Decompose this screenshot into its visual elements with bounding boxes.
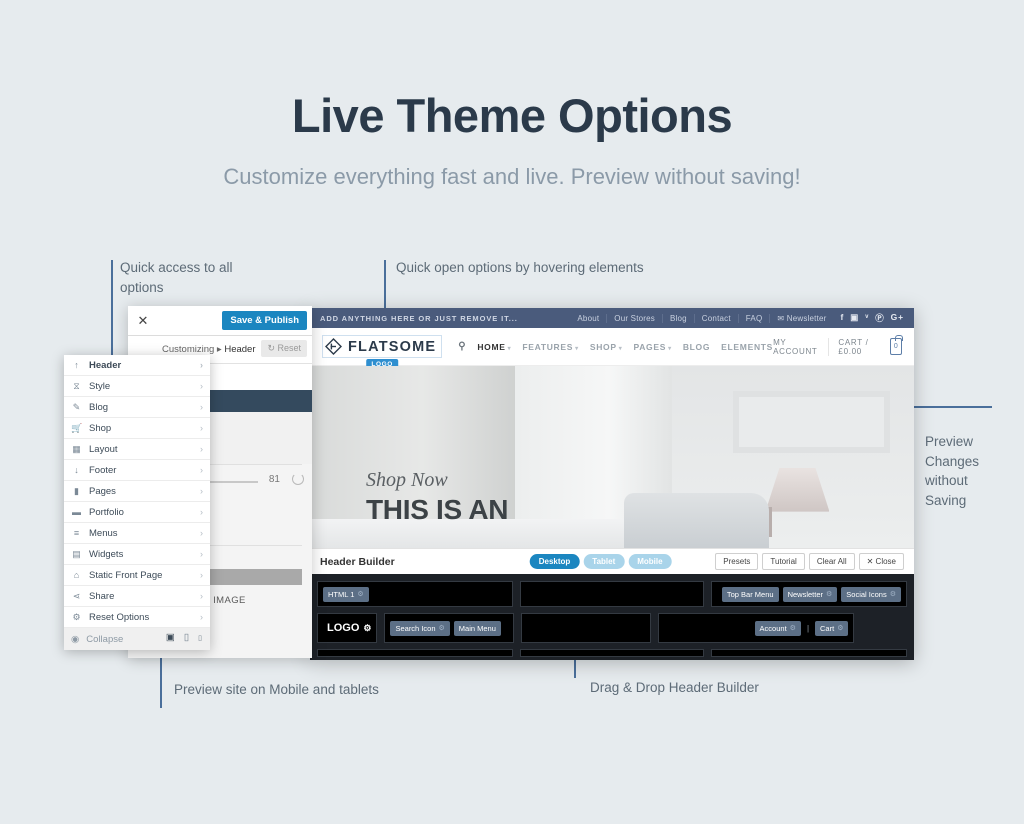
nav-label: PAGES: [633, 342, 666, 352]
instagram-icon[interactable]: ▣: [850, 312, 859, 324]
tab-tablet[interactable]: Tablet: [583, 554, 624, 569]
chevron-right-icon: ›: [200, 423, 203, 433]
envelope-icon: ✉: [777, 314, 784, 323]
top-bar-promo-text: ADD ANYTHING HERE OR JUST REMOVE IT...: [320, 314, 570, 323]
brush-icon: ⧖: [71, 381, 82, 392]
device-desktop-button[interactable]: ▣: [166, 632, 175, 643]
annotation-preview-devices: Preview site on Mobile and tablets: [174, 680, 404, 700]
chevron-right-icon: ›: [200, 507, 203, 517]
chip-label: Search Icon: [395, 624, 435, 633]
builder-chip-top-bar-menu[interactable]: Top Bar Menu: [722, 587, 779, 602]
nav-right-group: MY ACCOUNT CART / £0.00 0: [773, 338, 902, 356]
widgets-icon: ▤: [71, 549, 82, 560]
chevron-right-icon: ›: [200, 528, 203, 538]
builder-cell-logo[interactable]: LOGO ⚙: [317, 613, 377, 643]
header-builder-actions: Presets Tutorial Clear All ✕ Close: [715, 553, 904, 570]
presets-button[interactable]: Presets: [715, 553, 758, 570]
menu-item-label: Shop: [89, 423, 193, 434]
chip-label: Main Menu: [459, 624, 496, 633]
chevron-right-icon: ›: [200, 444, 203, 454]
chip-label: Newsletter: [788, 590, 823, 599]
nav-item-home[interactable]: HOME▾: [477, 342, 511, 352]
builder-cell-bottom-center[interactable]: [520, 649, 704, 657]
page-title: Live Theme Options: [0, 88, 1024, 143]
menu-item-shop[interactable]: 🛒 Shop ›: [64, 418, 210, 439]
site-logo[interactable]: FLATSOME LOGO: [322, 335, 442, 358]
chip-label: HTML 1: [328, 590, 354, 599]
collapse-button[interactable]: ◉ Collapse ▣ ▯ ▯: [64, 628, 210, 650]
hero-text-block: Shop Now THIS IS AN: [366, 469, 508, 526]
builder-chip-main-menu[interactable]: Main Menu: [454, 621, 501, 636]
share-icon: ⋖: [71, 591, 82, 602]
my-account-link[interactable]: MY ACCOUNT: [773, 338, 818, 356]
hero-script-text: Shop Now: [366, 469, 508, 492]
annotation-rule-quick-access: [111, 260, 113, 360]
menu-item-label: Blog: [89, 402, 193, 413]
nav-label: SHOP: [590, 342, 617, 352]
device-mobile-button[interactable]: ▯: [198, 634, 202, 642]
nav-item-shop[interactable]: SHOP▾: [590, 342, 623, 352]
builder-chip-social-icons[interactable]: Social Icons ⚙: [841, 587, 901, 602]
gear-icon[interactable]: ⚙: [439, 624, 445, 632]
device-preview-switcher: ▣ ▯ ▯: [166, 632, 202, 643]
cart-count: 0: [894, 343, 899, 350]
home-icon: ⌂: [71, 570, 82, 580]
top-bar-links: About Our Stores Blog Contact FAQ ✉ News…: [570, 314, 833, 323]
chip-label: Social Icons: [846, 590, 886, 599]
header-builder-stage: HTML 1 ⚙ Top Bar Menu Newsletter ⚙ Socia…: [310, 574, 914, 660]
site-nav-bar: FLATSOME LOGO ⚲ HOME▾ FEATURES▾ SHOP▾ PA…: [310, 328, 914, 366]
clear-all-button[interactable]: Clear All: [809, 553, 855, 570]
menu-item-label: Widgets: [89, 549, 193, 560]
builder-chip-divider[interactable]: |: [805, 624, 811, 633]
hero-shelf: [733, 391, 890, 453]
chevron-right-icon: ›: [200, 591, 203, 601]
logo-label: LOGO: [327, 622, 359, 634]
menu-item-label: Layout: [89, 444, 193, 455]
annotation-quick-access: Quick access to all options: [120, 258, 270, 297]
gear-icon[interactable]: ⚙: [890, 590, 896, 598]
chevron-right-icon: ›: [200, 570, 203, 580]
builder-cell-bottom-right[interactable]: [711, 649, 907, 657]
menu-item-share[interactable]: ⋖ Share ›: [64, 586, 210, 607]
gear-icon: ⚙: [71, 612, 82, 623]
options-flyout-menu: ↑ Header › ⧖ Style › ✎ Blog › 🛒 Shop › ▦…: [64, 355, 210, 650]
site-preview-window: ADD ANYTHING HERE OR JUST REMOVE IT... A…: [310, 308, 914, 660]
breadcrumb-text: Customizing ▸ Header: [162, 344, 256, 355]
top-bar-link-blog[interactable]: Blog: [663, 314, 695, 323]
circle-arrow-icon: ◉: [71, 634, 79, 645]
chevron-right-icon: ›: [200, 360, 203, 370]
builder-chip-newsletter[interactable]: Newsletter ⚙: [783, 587, 838, 602]
chip-label: Account: [760, 624, 787, 633]
arrow-down-icon: ↓: [71, 465, 82, 475]
close-label: Close: [876, 557, 896, 566]
builder-chip-logo[interactable]: LOGO ⚙: [323, 622, 371, 634]
annotation-preview-changes: Preview Changes without Saving: [925, 432, 989, 510]
breadcrumb-separator: ▸: [217, 344, 222, 355]
device-tablet-button[interactable]: ▯: [184, 632, 189, 643]
tab-mobile[interactable]: Mobile: [628, 554, 671, 569]
builder-chip-search-icon[interactable]: Search Icon ⚙: [390, 621, 449, 636]
gear-icon[interactable]: ⚙: [826, 590, 832, 598]
menu-item-widgets[interactable]: ▤ Widgets ›: [64, 544, 210, 565]
pencil-icon: ✎: [71, 402, 82, 413]
nav-item-pages[interactable]: PAGES▾: [633, 342, 671, 352]
folder-icon: ▬: [71, 507, 82, 517]
top-bar-link-faq[interactable]: FAQ: [739, 314, 771, 323]
grid-icon: ▦: [71, 444, 82, 455]
gear-icon[interactable]: ⚙: [790, 624, 796, 632]
builder-cell-top-right[interactable]: Top Bar Menu Newsletter ⚙ Social Icons ⚙: [711, 581, 907, 607]
close-icon: ✕: [867, 557, 874, 566]
menu-item-label: Reset Options: [89, 612, 193, 623]
gear-icon[interactable]: ⚙: [363, 623, 371, 634]
menu-item-label: Portfolio: [89, 507, 193, 518]
top-bar-link-our-stores[interactable]: Our Stores: [607, 314, 663, 323]
builder-cell-top-left[interactable]: HTML 1 ⚙: [317, 581, 513, 607]
menu-item-header[interactable]: ↑ Header ›: [64, 355, 210, 376]
menu-item-label: Share: [89, 591, 193, 602]
chip-label: Cart: [820, 624, 834, 633]
gear-icon[interactable]: ⚙: [837, 624, 843, 632]
menu-item-pages[interactable]: ▮ Pages ›: [64, 481, 210, 502]
builder-chip-account[interactable]: Account ⚙: [755, 621, 801, 636]
builder-cell-top-center[interactable]: [520, 581, 704, 607]
menu-item-portfolio[interactable]: ▬ Portfolio ›: [64, 502, 210, 523]
menu-item-label: Style: [89, 381, 193, 392]
menu-item-label: Header: [89, 360, 193, 371]
builder-cell-main-center[interactable]: [521, 613, 651, 643]
menu-item-reset-options[interactable]: ⚙ Reset Options ›: [64, 607, 210, 628]
divider: [828, 338, 829, 356]
menu-item-label: Static Front Page: [89, 570, 193, 581]
site-top-bar: ADD ANYTHING HERE OR JUST REMOVE IT... A…: [310, 308, 914, 328]
page-icon: ▮: [71, 486, 82, 497]
builder-cell-main-left[interactable]: Search Icon ⚙ Main Menu: [384, 613, 514, 643]
refresh-icon[interactable]: [292, 473, 304, 485]
annotation-drag-drop: Drag & Drop Header Builder: [590, 678, 780, 698]
cart-total-label[interactable]: CART / £0.00: [838, 338, 880, 356]
logo-text: FLATSOME: [348, 339, 436, 355]
menu-item-static-front-page[interactable]: ⌂ Static Front Page ›: [64, 565, 210, 586]
hero-pillow: [624, 493, 769, 548]
customizer-titlebar: ✕ Save & Publish: [128, 306, 312, 336]
menu-item-menus[interactable]: ≡ Menus ›: [64, 523, 210, 544]
tutorial-button[interactable]: Tutorial: [762, 553, 804, 570]
close-icon[interactable]: ✕: [134, 312, 152, 330]
nav-item-elements[interactable]: ELEMENTS: [721, 342, 773, 352]
chevron-down-icon: ▾: [575, 346, 579, 352]
menu-item-footer[interactable]: ↓ Footer ›: [64, 460, 210, 481]
builder-row-top-bar: HTML 1 ⚙ Top Bar Menu Newsletter ⚙ Socia…: [317, 581, 907, 607]
hero-headline: THIS IS AN: [366, 494, 508, 526]
builder-cell-bottom-left[interactable]: [317, 649, 513, 657]
arrow-up-icon: ↑: [71, 360, 82, 370]
menu-item-style[interactable]: ⧖ Style ›: [64, 376, 210, 397]
chevron-right-icon: ›: [200, 612, 203, 622]
menu-item-label: Pages: [89, 486, 193, 497]
page-subtitle: Customize everything fast and live. Prev…: [0, 164, 1024, 190]
close-button[interactable]: ✕ Close: [859, 553, 904, 570]
gear-icon[interactable]: ⚙: [357, 590, 363, 598]
slider-value: 81: [269, 474, 280, 485]
header-builder-title: Header Builder: [320, 556, 395, 568]
chevron-down-icon: ▾: [668, 346, 672, 352]
top-bar-link-newsletter[interactable]: ✉ Newsletter: [770, 314, 833, 323]
chevron-right-icon: ›: [200, 381, 203, 391]
chevron-right-icon: ›: [200, 465, 203, 475]
chevron-right-icon: ›: [200, 549, 203, 559]
breadcrumb-prefix: Customizing: [162, 344, 214, 355]
annotation-quick-open: Quick open options by hovering elements: [396, 258, 666, 278]
menu-item-layout[interactable]: ▦ Layout ›: [64, 439, 210, 460]
menu-item-blog[interactable]: ✎ Blog ›: [64, 397, 210, 418]
header-builder-toolbar: Header Builder Desktop Tablet Mobile Pre…: [310, 548, 914, 574]
pinterest-icon[interactable]: Ⓟ: [875, 312, 884, 324]
tab-desktop[interactable]: Desktop: [530, 554, 580, 569]
chevron-down-icon: ▾: [508, 346, 512, 352]
builder-row-main: LOGO ⚙ Search Icon ⚙ Main Menu Account ⚙: [317, 613, 907, 643]
social-icons: f ▣ ᵛ Ⓟ G+: [834, 312, 904, 324]
main-menu: ⚲ HOME▾ FEATURES▾ SHOP▾ PAGES▾ BLOG ELEM…: [458, 341, 773, 352]
collapse-label: Collapse: [86, 634, 123, 645]
cart-icon: 🛒: [71, 423, 82, 434]
hero-slide: Shop Now THIS IS AN: [310, 366, 914, 548]
chevron-right-icon: ›: [200, 486, 203, 496]
top-bar-link-contact[interactable]: Contact: [695, 314, 739, 323]
menu-item-label: Menus: [89, 528, 193, 539]
builder-cell-main-right[interactable]: Account ⚙ | Cart ⚙: [658, 613, 854, 643]
breadcrumb-current: Header: [224, 344, 255, 355]
reset-label: Reset: [277, 343, 301, 353]
save-and-publish-button[interactable]: Save & Publish: [222, 311, 307, 330]
twitter-icon[interactable]: ᵛ: [865, 312, 869, 324]
facebook-icon[interactable]: f: [841, 312, 845, 324]
builder-chip-html-1[interactable]: HTML 1 ⚙: [323, 587, 369, 602]
top-bar-link-about[interactable]: About: [570, 314, 607, 323]
nav-label: FEATURES: [522, 342, 573, 352]
reset-button[interactable]: ↻ Reset: [261, 340, 307, 357]
list-icon: ≡: [71, 528, 82, 538]
chevron-right-icon: ›: [200, 402, 203, 412]
header-builder-device-tabs: Desktop Tablet Mobile: [530, 554, 672, 569]
menu-item-label: Footer: [89, 465, 193, 476]
builder-row-bottom: [317, 649, 907, 657]
builder-chip-cart[interactable]: Cart ⚙: [815, 621, 848, 636]
chip-label: Top Bar Menu: [727, 590, 774, 599]
flatsome-logo-icon: [325, 338, 342, 355]
newsletter-label: Newsletter: [787, 314, 827, 323]
chevron-down-icon: ▾: [619, 346, 623, 352]
search-icon[interactable]: ⚲: [458, 341, 466, 352]
nav-item-blog[interactable]: BLOG: [683, 342, 710, 352]
cart-icon[interactable]: 0: [890, 338, 902, 355]
googleplus-icon[interactable]: G+: [891, 312, 904, 324]
nav-item-features[interactable]: FEATURES▾: [522, 342, 579, 352]
nav-label: HOME: [477, 342, 505, 352]
